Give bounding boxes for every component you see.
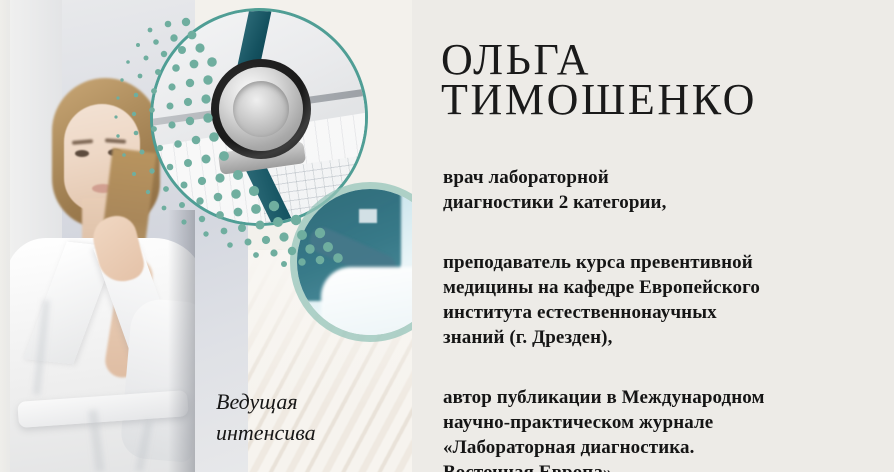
- portrait-edge-shadow: [168, 210, 195, 472]
- small-circle-badge: [359, 209, 377, 223]
- stethoscope-diaphragm: [233, 81, 289, 137]
- left-edge-gutter: [0, 0, 10, 472]
- portrait-eye-left: [75, 150, 89, 157]
- text-column: ОЛЬГА ТИМОШЕНКО врач лабораторной диагно…: [441, 0, 881, 472]
- role-caption: Ведущая интенсива: [216, 386, 376, 448]
- bio-paragraph-teaching: преподаватель курса превентивной медицин…: [443, 250, 879, 350]
- collage-panel: Ведущая интенсива: [0, 0, 412, 472]
- medical-worker-circle-photo: [290, 182, 412, 342]
- bio-paragraph-publication: автор публикации в Международном научно-…: [443, 385, 879, 472]
- small-circle-coat: [321, 267, 412, 342]
- bio-paragraph-qualification: врач лабораторной диагностики 2 категори…: [443, 165, 879, 215]
- page-title: ОЛЬГА ТИМОШЕНКО: [441, 40, 881, 120]
- slide-canvas: Ведущая интенсива ОЛЬГА ТИМОШЕНКО врач л…: [0, 0, 894, 472]
